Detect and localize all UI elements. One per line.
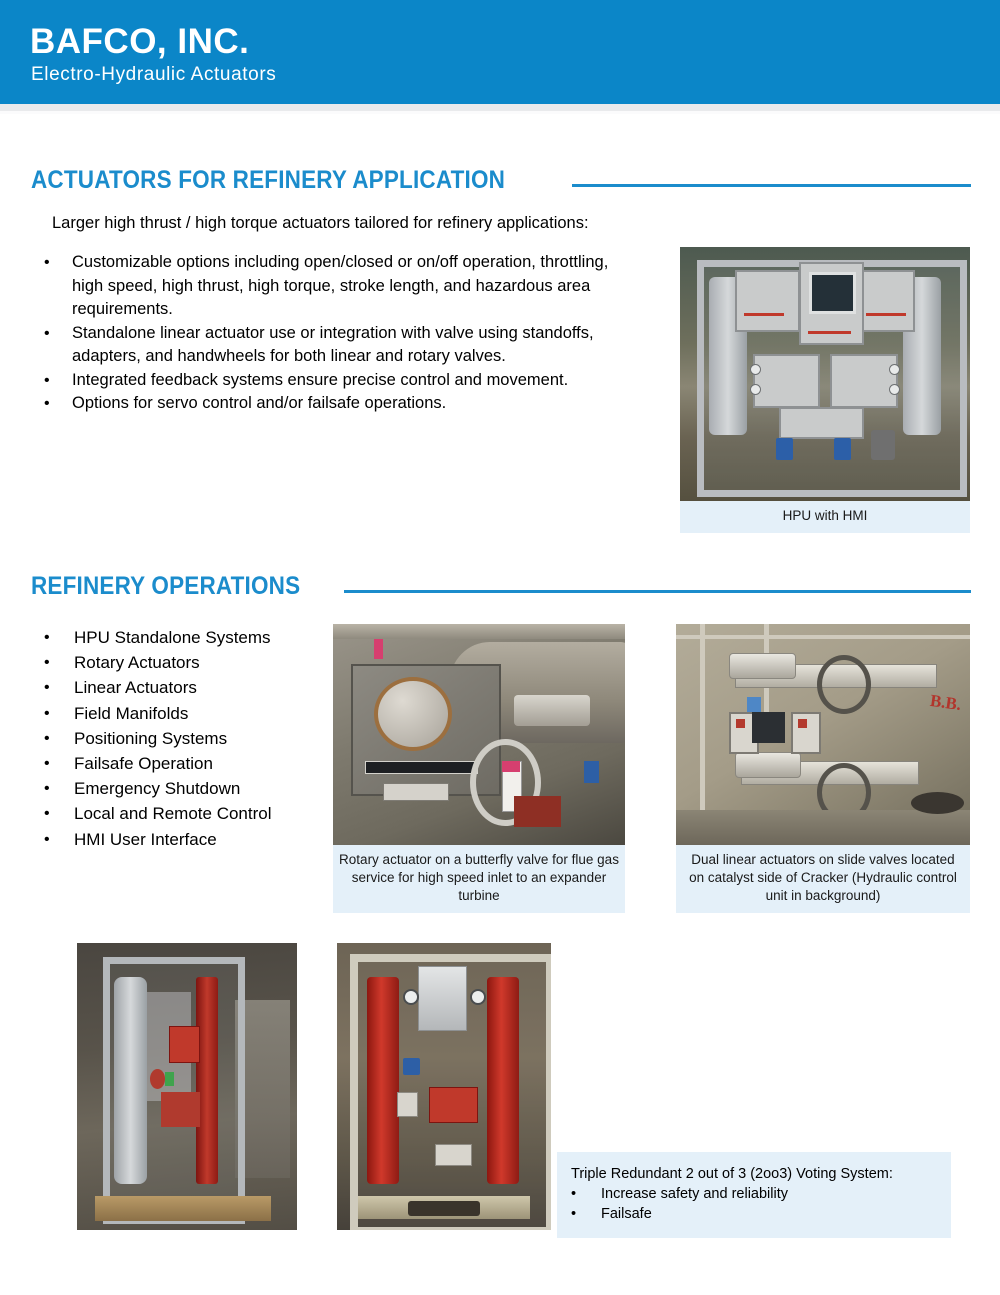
voting-system-callout: Triple Redundant 2 out of 3 (2oo3) Votin… (557, 1152, 951, 1238)
green-tag (165, 1072, 174, 1086)
list-item-label: Failsafe Operation (74, 751, 344, 776)
gauge-icon (470, 989, 486, 1005)
bullet-icon: • (44, 827, 74, 852)
list-item: • Integrated feedback systems ensure pre… (44, 369, 644, 393)
dark-cabinet (752, 712, 784, 743)
list-item-label: Positioning Systems (74, 726, 344, 751)
list-item: • Linear Actuators (44, 675, 344, 700)
blue-transmitter (403, 1058, 420, 1075)
enclosure-left (735, 270, 800, 332)
list-item: • Local and Remote Control (44, 801, 344, 826)
list-item-label: Increase safety and reliability (601, 1184, 788, 1204)
bullet-icon: • (44, 726, 74, 751)
bullet-icon: • (44, 675, 74, 700)
list-item-label: Linear Actuators (74, 675, 344, 700)
actuator-cylinder (514, 695, 590, 726)
photo-dual-actuators: B.B. (676, 624, 970, 845)
figure-caption: Rotary actuator on a butterfly valve for… (333, 845, 625, 913)
voting-callout-title: Triple Redundant 2 out of 3 (2oo3) Votin… (571, 1164, 937, 1184)
figure-voting-system (337, 943, 551, 1230)
manifold-panel-right (830, 354, 898, 409)
list-item-label: Integrated feedback systems ensure preci… (72, 369, 644, 393)
figure-caption: HPU with HMI (680, 501, 970, 533)
bullet-icon: • (44, 251, 72, 275)
list-item-label: Failsafe (601, 1204, 652, 1224)
company-logo-text: BAFCO, INC. (30, 22, 249, 62)
horizontal-pipe (676, 635, 970, 639)
intro-paragraph: Larger high thrust / high torque actuato… (52, 212, 652, 234)
voting-benefit-list: • Increase safety and reliability • Fail… (571, 1184, 937, 1224)
section-title-text: REFINERY OPERATIONS (31, 572, 300, 601)
bullet-icon: • (44, 369, 72, 393)
figure-hydraulic-skid (77, 943, 297, 1230)
photo-hpu-skid (680, 247, 970, 501)
list-item: • Options for servo control and/or fails… (44, 392, 644, 416)
list-item-label: Customizable options including open/clos… (72, 251, 644, 322)
overhead-structure (333, 624, 625, 639)
valve-block (435, 1144, 471, 1166)
bullet-icon: • (44, 801, 74, 826)
photo-rotary-actuator (333, 624, 625, 845)
section-heading-actuators: ACTUATORS FOR REFINERY APPLICATION (31, 166, 971, 195)
figure-hpu-with-hmi: HPU with HMI (680, 247, 970, 533)
accumulator-left (367, 977, 399, 1184)
photo-voting-system (337, 943, 551, 1230)
header-divider-light (0, 111, 1000, 114)
wooden-pallet (95, 1196, 271, 1222)
section-title-text: ACTUATORS FOR REFINERY APPLICATION (31, 166, 505, 195)
terminal-block (397, 1092, 418, 1117)
list-item: • Field Manifolds (44, 701, 344, 726)
stainless-panel (418, 966, 467, 1031)
list-item-label: Local and Remote Control (74, 801, 344, 826)
red-manifold (429, 1087, 478, 1123)
upper-actuator-cylinder (729, 653, 796, 679)
bullet-icon: • (44, 701, 74, 726)
bullet-icon: • (44, 776, 74, 801)
list-item: • Failsafe Operation (44, 751, 344, 776)
accumulator-red (196, 977, 218, 1184)
indicator-red-right (798, 719, 807, 728)
actuator-feature-list: • Customizable options including open/cl… (44, 251, 644, 416)
section-heading-refinery-operations: REFINERY OPERATIONS (31, 572, 971, 601)
list-item: • Increase safety and reliability (571, 1184, 937, 1204)
hmi-label-strip (808, 331, 852, 334)
label-strip-right (866, 313, 907, 316)
blue-tag (747, 697, 762, 712)
bullet-icon: • (44, 322, 72, 346)
list-item-label: Standalone linear actuator use or integr… (72, 322, 644, 369)
manifold-panel-left (753, 354, 821, 409)
list-item-label: Field Manifolds (74, 701, 344, 726)
valve-blue-left (776, 438, 793, 461)
list-item: • HMI User Interface (44, 827, 344, 852)
gauge-icon (750, 364, 761, 375)
blue-component (584, 761, 599, 783)
scale-strip (365, 761, 478, 774)
tag-header-pink (502, 761, 520, 772)
accumulator-gray (114, 977, 147, 1184)
list-item: • Standalone linear actuator use or inte… (44, 322, 644, 369)
accumulator-right (487, 977, 519, 1184)
bullet-icon: • (44, 751, 74, 776)
figure-caption: Dual linear actuators on slide valves lo… (676, 845, 970, 913)
section-rule (572, 184, 971, 187)
hmi-screen (809, 272, 856, 314)
red-manifold (161, 1092, 201, 1126)
page-header: BAFCO, INC. Electro-Hydraulic Actuators (0, 0, 1000, 104)
company-tagline: Electro-Hydraulic Actuators (31, 63, 276, 87)
red-junction-box (169, 1026, 200, 1062)
list-item-label: Rotary Actuators (74, 650, 344, 675)
figure-dual-linear-actuators: B.B. Dual linear actuators on slide valv… (676, 624, 970, 913)
list-item-label: Emergency Shutdown (74, 776, 344, 801)
header-divider (0, 104, 1000, 111)
label-strip-left (744, 313, 785, 316)
list-item-label: HPU Standalone Systems (74, 625, 344, 650)
red-equipment (514, 796, 561, 827)
list-item: • Emergency Shutdown (44, 776, 344, 801)
base-cutout (408, 1201, 481, 1215)
gauge-icon (750, 384, 761, 395)
bullet-icon: • (44, 650, 74, 675)
upper-handwheel (817, 655, 871, 714)
list-item-label: Options for servo control and/or failsaf… (72, 392, 644, 416)
bullet-icon: • (571, 1184, 601, 1204)
bullet-icon: • (44, 625, 74, 650)
list-item: • Rotary Actuators (44, 650, 344, 675)
lower-actuator-cylinder (735, 752, 802, 778)
section-rule (344, 590, 971, 593)
floor (676, 810, 970, 845)
list-item: • HPU Standalone Systems (44, 625, 344, 650)
photo-hydraulic-skid (77, 943, 297, 1230)
sight-glass (374, 677, 452, 751)
list-item: • Failsafe (571, 1204, 937, 1224)
list-item: • Positioning Systems (44, 726, 344, 751)
bullet-icon: • (44, 392, 72, 416)
bullet-icon: • (571, 1204, 601, 1224)
refinery-operations-list: • HPU Standalone Systems • Rotary Actuat… (44, 625, 344, 852)
list-item-label: HMI User Interface (74, 827, 344, 852)
valve-blue-right (834, 438, 851, 461)
nameplate (383, 783, 449, 800)
lower-manifold (779, 407, 864, 439)
list-item: • Customizable options including open/cl… (44, 251, 644, 322)
motor-block (871, 430, 894, 460)
coil-on-floor (911, 792, 964, 814)
figure-rotary-actuator: Rotary actuator on a butterfly valve for… (333, 624, 625, 913)
indicator-red-left (736, 719, 745, 728)
wall-marking-text: B.B. (929, 690, 963, 714)
